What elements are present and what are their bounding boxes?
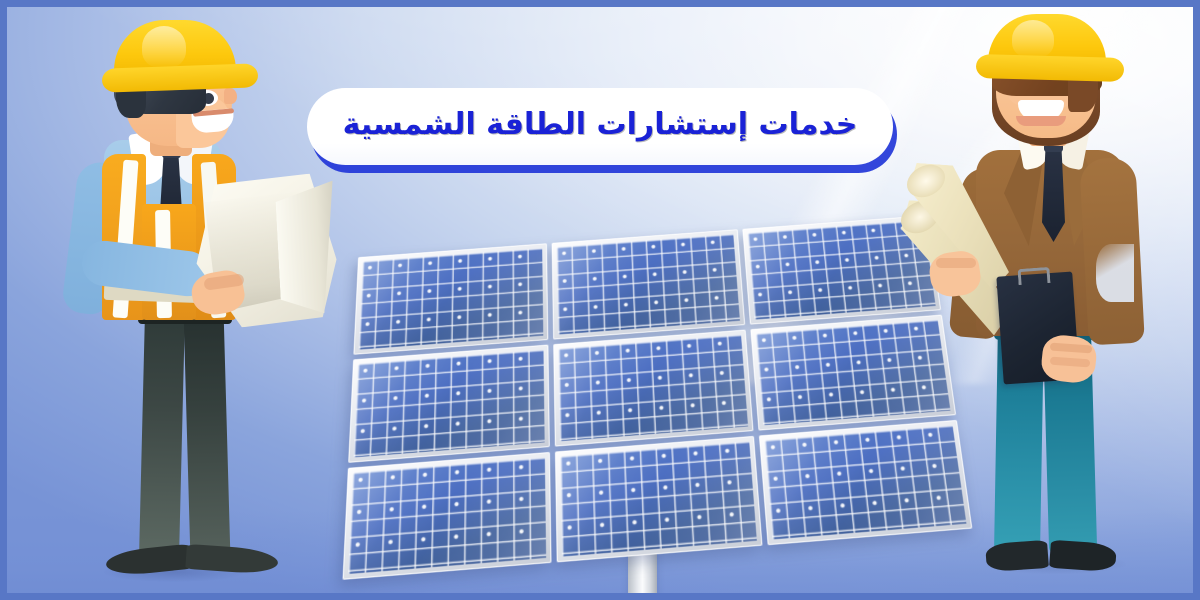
hard-hat-brim <box>102 63 259 92</box>
solar-panel-module <box>348 344 549 463</box>
title-banner-pill: خدمات إستشارات الطاقة الشمسية <box>307 88 893 165</box>
solar-panel-module <box>343 452 552 579</box>
solar-panel-module <box>553 329 754 447</box>
solar-panel-module <box>555 436 763 562</box>
hard-hat-brim <box>976 54 1125 82</box>
shoe-left <box>985 540 1049 572</box>
trouser-leg-left <box>139 310 185 561</box>
lower-lip <box>1016 116 1066 126</box>
solar-panel-sheen <box>348 458 546 574</box>
engineer-with-clipboard <box>900 6 1200 600</box>
solar-panel-module <box>551 229 745 339</box>
title-pill-surface: خدمات إستشارات الطاقة الشمسية <box>307 88 893 165</box>
finger-lines <box>936 258 976 268</box>
solar-panel-sheen <box>354 349 545 457</box>
page-title: خدمات إستشارات الطاقة الشمسية <box>343 110 858 143</box>
engineer-with-blueprint <box>46 14 336 600</box>
solar-panel-sheen <box>556 234 740 334</box>
trouser-leg-right <box>184 309 231 560</box>
solar-consulting-banner: خدمات إستشارات الطاقة الشمسية <box>0 0 1200 600</box>
arm-akimbo-gap <box>1096 244 1134 302</box>
nose <box>224 88 237 104</box>
hard-hat-highlight <box>142 26 186 68</box>
solar-panel-array <box>352 222 952 552</box>
solar-panel-sheen <box>558 334 748 441</box>
hard-hat-highlight <box>1012 20 1054 58</box>
shoe-right <box>1049 540 1117 573</box>
solar-panel-sheen <box>359 248 543 349</box>
clipboard-clip <box>1017 267 1050 285</box>
solar-panel-module <box>353 243 547 354</box>
necktie <box>1042 144 1065 242</box>
solar-panel-sheen <box>560 442 757 557</box>
